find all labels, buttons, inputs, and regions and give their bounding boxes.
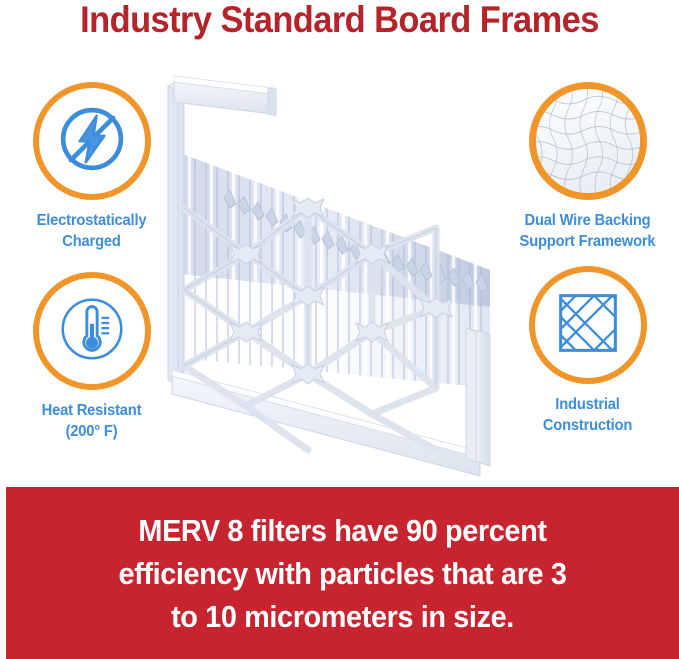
feature-label-line1: Dual Wire Backing	[525, 212, 651, 229]
feature-badge-ring	[529, 266, 647, 384]
chain-link-grid-icon	[550, 285, 626, 366]
feature-dual-wire-backing: Dual Wire Backing Support Framework	[500, 82, 675, 252]
product-image-pleated-air-filter	[150, 58, 522, 483]
feature-badge-ring	[33, 272, 151, 390]
feature-label-line1: Heat Resistant	[42, 402, 142, 419]
page-title: Industry Standard Board Frames	[24, 0, 655, 41]
banner-line-1: MERV 8 filters have 90 percent	[39, 509, 646, 552]
feature-column-right: Dual Wire Backing Support Framework	[500, 82, 675, 450]
feature-label-line1: Electrostatically	[37, 212, 147, 229]
feature-industrial-construction: Industrial Construction	[500, 266, 675, 436]
infographic-page: Industry Standard Board Frames Electrost…	[0, 0, 679, 659]
feature-label-line2: Construction	[504, 415, 670, 436]
feature-label-line2: Support Framework	[504, 231, 670, 252]
no-static-lightning-icon	[53, 100, 131, 183]
feature-label: Dual Wire Backing Support Framework	[504, 210, 670, 252]
wire-mesh-photo-icon	[534, 85, 642, 198]
banner-line-2: efficiency with particles that are 3	[39, 552, 646, 595]
bottom-banner: MERV 8 filters have 90 percent efficienc…	[6, 487, 679, 659]
feature-label-line1: Industrial	[555, 396, 619, 413]
feature-badge-ring	[529, 82, 647, 200]
banner-line-3: to 10 micrometers in size.	[39, 595, 646, 638]
feature-badge-ring	[33, 82, 151, 200]
feature-label: Industrial Construction	[504, 394, 670, 436]
banner-text: MERV 8 filters have 90 percent efficienc…	[30, 509, 656, 638]
thermometer-icon	[49, 286, 135, 377]
